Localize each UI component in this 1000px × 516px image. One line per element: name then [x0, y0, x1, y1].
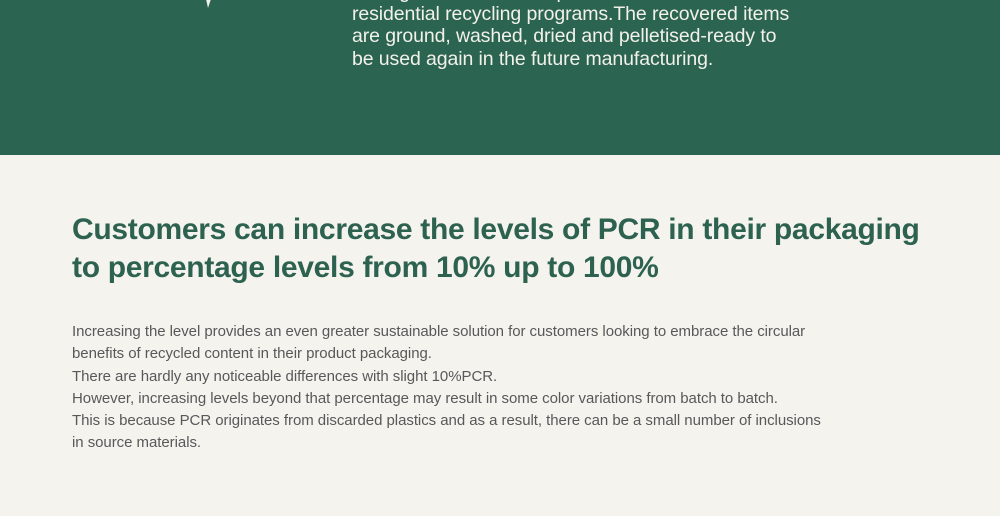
hero-paragraph-line: be used again in the future manufacturin… — [352, 48, 882, 70]
body-paragraph-line: There are hardly any noticeable differen… — [72, 366, 962, 388]
body-paragraph: Increasing the level provides an even gr… — [72, 321, 962, 455]
hero-green-band: sorting of these discard plastics in com… — [0, 0, 1000, 155]
body-paragraph-line: However, increasing levels beyond that p… — [72, 388, 962, 410]
page-title: Customers can increase the levels of PCR… — [72, 211, 952, 287]
body-paragraph-line: Increasing the level provides an even gr… — [72, 321, 962, 343]
hero-paragraph-line: are ground, washed, dried and pelletised… — [352, 25, 882, 47]
body-paragraph-line: This is because PCR originates from disc… — [72, 410, 962, 432]
body-paragraph-line: benefits of recycled content in their pr… — [72, 343, 962, 365]
page-title-line: Customers can increase the levels of PCR… — [72, 211, 952, 249]
page-title-line: to percentage levels from 10% up to 100% — [72, 249, 952, 287]
hero-paragraph: sorting of these discard plastics in com… — [352, 0, 882, 70]
content-section: Customers can increase the levels of PCR… — [0, 155, 1000, 516]
body-paragraph-line: in source materials. — [72, 432, 962, 454]
speech-bubble-leaf-icon — [108, 0, 248, 36]
hero-paragraph-line: residential recycling programs.The recov… — [352, 3, 882, 25]
page-root: sorting of these discard plastics in com… — [0, 0, 1000, 516]
